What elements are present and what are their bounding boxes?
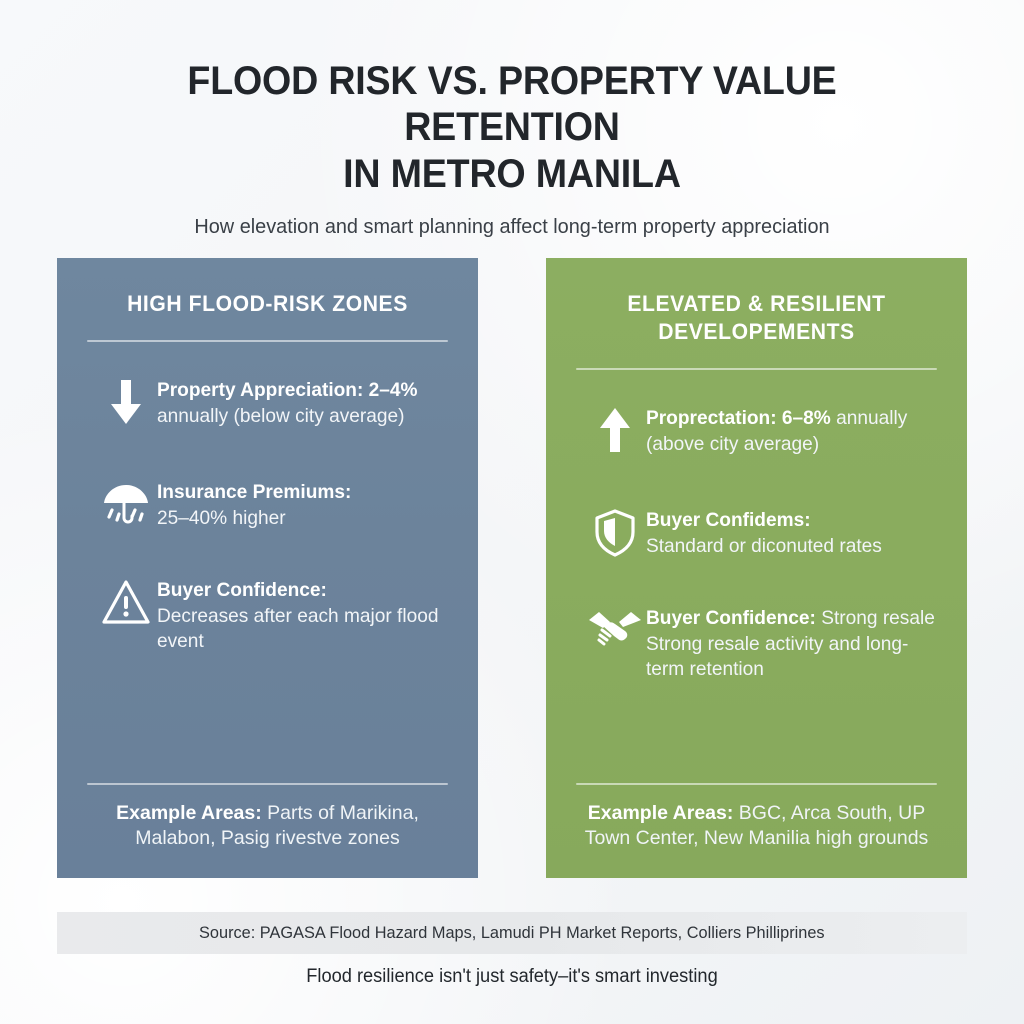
panel-items-elevated-resilient: Proprectation: 6–8% annually (above city… [570, 370, 943, 782]
example-areas-label: Example Areas: [116, 802, 262, 824]
list-item: Buyer Confidence: Strong resale Strong r… [570, 604, 943, 682]
list-item-text: Buyer Confidence: Decreases after each m… [157, 576, 448, 654]
list-item-label: Buyer Confidems: [646, 509, 811, 531]
list-item-text: Buyer Confidems: Standard or diconuted r… [646, 506, 882, 559]
example-areas: Example Areas: BGC, Arca South, UP Town … [570, 785, 943, 852]
warning-triangle-icon [95, 576, 157, 636]
panel-footer-elevated-resilient: Example Areas: BGC, Arca South, UP Town … [570, 783, 943, 878]
example-areas: Example Areas: Parts of Marikina, Malabo… [81, 785, 454, 852]
shield-icon [584, 506, 646, 566]
list-item: Property Appreciation: 2–4% annually (be… [81, 376, 454, 436]
panel-title-elevated-resilient: ELEVATED & RESILIENT DEVELOPEMENTS [577, 290, 935, 346]
header: FLOOD RISK VS. PROPERTY VALUE RETENTION … [62, 58, 962, 239]
list-item-label: Proprectation: 6–8% [646, 407, 831, 429]
page-title-line-1: FLOOD RISK VS. PROPERTY VALUE RETENTION [187, 59, 836, 149]
page-title: FLOOD RISK VS. PROPERTY VALUE RETENTION … [89, 58, 935, 197]
list-item-label: Buyer Confidence: [157, 579, 327, 601]
list-item-detail: 25–40% higher [157, 507, 286, 529]
list-item-text: Proprectation: 6–8% annually (above city… [646, 404, 937, 457]
list-item-detail: annually (below city average) [157, 405, 405, 427]
arrow-down-icon [95, 376, 157, 436]
list-item-label: Buyer Confidence: [646, 607, 816, 629]
arrow-up-icon [584, 404, 646, 464]
footer-tagline: Flood resilience isn't just safety–it's … [20, 966, 1003, 988]
umbrella-rain-icon [95, 478, 157, 538]
list-item-text: Insurance Premiums: 25–40% higher [157, 478, 351, 531]
list-item: Buyer Confidems: Standard or diconuted r… [570, 506, 943, 566]
panel-title-high-flood-risk: HIGH FLOOD-RISK ZONES [88, 290, 446, 318]
comparison-panels: HIGH FLOOD-RISK ZONES Property Appreciat… [57, 258, 967, 878]
page-title-line-2: IN METRO MANILA [89, 151, 935, 197]
list-item-label: Insurance Premiums: [157, 481, 351, 503]
list-item-text: Property Appreciation: 2–4% annually (be… [157, 376, 448, 429]
example-areas-label: Example Areas: [588, 802, 734, 824]
source-text: Source: PAGASA Flood Hazard Maps, Lamudi… [199, 923, 825, 943]
list-item-label: Property Appreciation: 2–4% [157, 379, 418, 401]
list-item: Buyer Confidence: Decreases after each m… [81, 576, 454, 654]
source-band: Source: PAGASA Flood Hazard Maps, Lamudi… [57, 912, 967, 954]
list-item-detail: Decreases after each major flood event [157, 605, 438, 652]
list-item: Proprectation: 6–8% annually (above city… [570, 404, 943, 464]
list-item: Insurance Premiums: 25–40% higher [81, 478, 454, 538]
list-item-detail: Standard or diconuted rates [646, 535, 882, 557]
panel-footer-high-flood-risk: Example Areas: Parts of Marikina, Malabo… [81, 783, 454, 878]
handshake-icon [584, 604, 646, 664]
panel-elevated-resilient: ELEVATED & RESILIENT DEVELOPEMENTS Propr… [546, 258, 967, 878]
list-item-text: Buyer Confidence: Strong resale Strong r… [646, 604, 937, 682]
page-subtitle: How elevation and smart planning affect … [76, 215, 949, 239]
panel-items-high-flood-risk: Property Appreciation: 2–4% annually (be… [81, 342, 454, 782]
panel-high-flood-risk: HIGH FLOOD-RISK ZONES Property Appreciat… [57, 258, 478, 878]
infographic-root: FLOOD RISK VS. PROPERTY VALUE RETENTION … [0, 0, 1024, 1024]
